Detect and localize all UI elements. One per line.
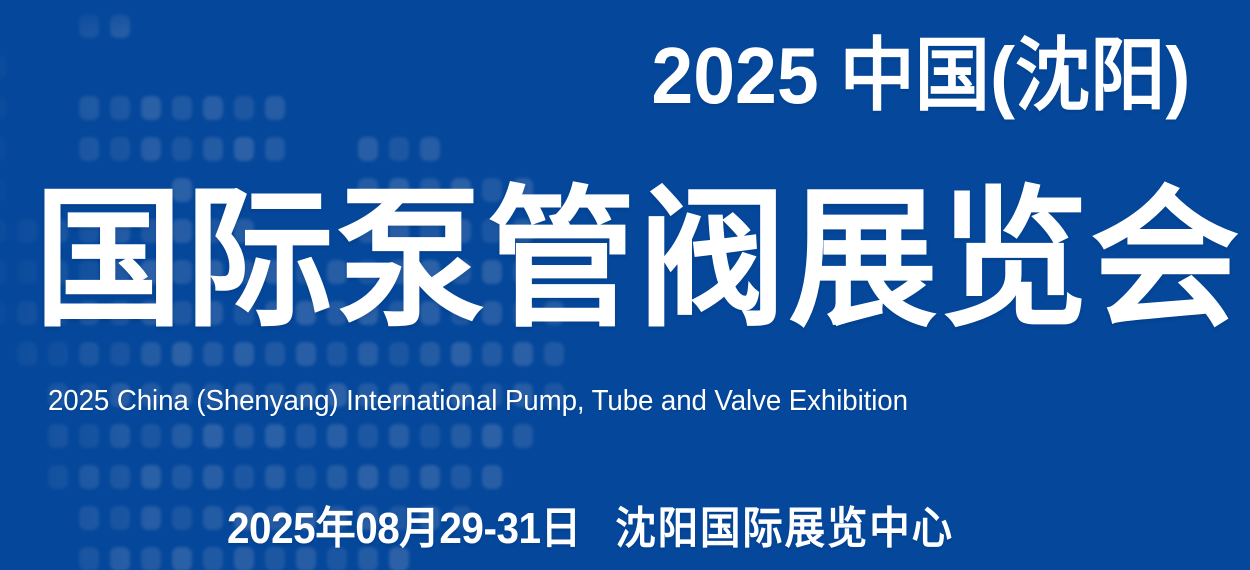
banner-content: 2025 中国(沈阳) 国际泵管阀展览会 2025 China (Shenyan… bbox=[0, 0, 1250, 570]
year-city-line: 2025 中国(沈阳) bbox=[651, 36, 1190, 116]
main-title: 国际泵管阀展览会 bbox=[34, 183, 1241, 338]
exhibition-banner: 2025 中国(沈阳) 国际泵管阀展览会 2025 China (Shenyan… bbox=[0, 0, 1250, 570]
event-date: 2025年08月29-31日 bbox=[227, 504, 581, 553]
date-venue-line: 2025年08月29-31日 沈阳国际展览中心 bbox=[227, 492, 954, 556]
event-venue: 沈阳国际展览中心 bbox=[615, 504, 954, 553]
english-subtitle: 2025 China (Shenyang) International Pump… bbox=[48, 385, 908, 418]
